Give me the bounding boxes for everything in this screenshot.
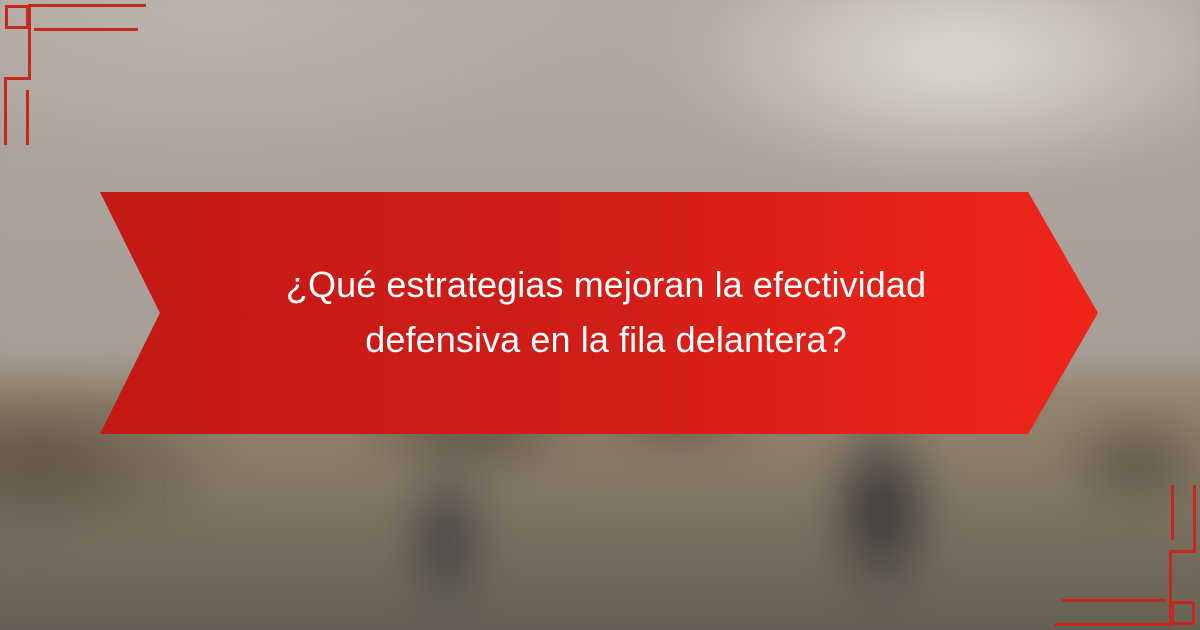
corner-decoration-bottom-right — [1040, 470, 1200, 630]
corner-square-icon — [5, 5, 29, 29]
corner-line-outer-horizontal — [1054, 623, 1172, 626]
corner-line-join-vertical — [4, 77, 7, 145]
corner-line-inner-vertical — [1171, 485, 1174, 540]
corner-line-inner-vertical — [26, 90, 29, 145]
corner-line-join-horizontal — [1169, 550, 1196, 553]
corner-decoration-top-left — [0, 0, 160, 160]
corner-square-icon — [1171, 601, 1195, 625]
corner-line-outer-vertical — [28, 4, 31, 80]
corner-line-inner-horizontal — [1062, 599, 1166, 602]
corner-line-inner-horizontal — [34, 28, 138, 31]
headline-text: ¿Qué estrategias mejoran la efectividad … — [234, 258, 964, 367]
corner-line-outer-horizontal — [28, 4, 146, 7]
corner-line-join-horizontal — [4, 77, 31, 80]
headline-banner: ¿Qué estrategias mejoran la efectividad … — [100, 192, 1098, 434]
social-card-canvas: ¿Qué estrategias mejoran la efectividad … — [0, 0, 1200, 630]
corner-line-outer-vertical — [1169, 550, 1172, 626]
corner-line-join-vertical — [1193, 485, 1196, 553]
